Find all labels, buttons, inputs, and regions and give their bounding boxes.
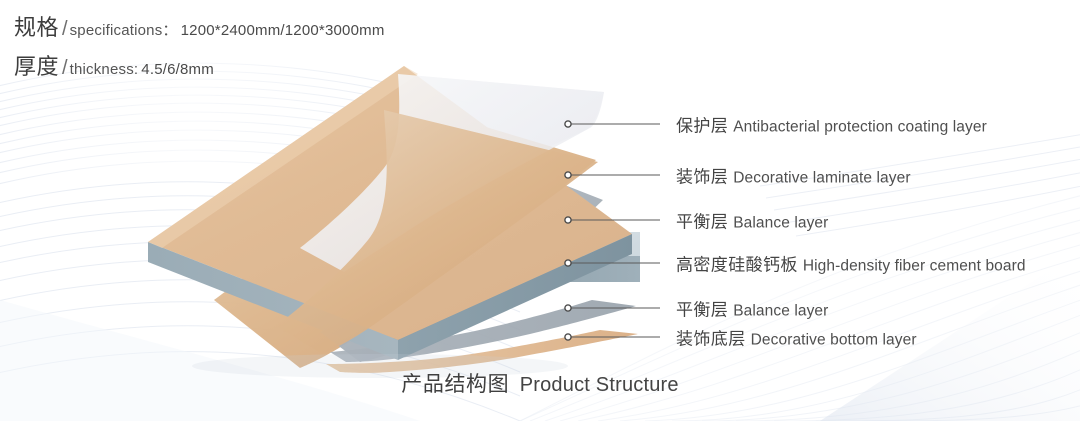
- leader-dot-1: [565, 121, 571, 127]
- spec-thickness-label-cn: 厚度: [14, 49, 59, 81]
- spec-size-label-en: specifications：: [70, 19, 178, 40]
- spec-size-separator: /: [62, 18, 68, 41]
- spec-thickness-value: 4.5/6/8mm: [141, 61, 214, 78]
- leader-dot-6: [565, 334, 571, 340]
- leader-dot-2: [565, 172, 571, 178]
- spec-thickness-separator: /: [62, 57, 68, 80]
- spec-row-thickness: 厚度 / thickness: 4.5/6/8mm: [14, 49, 385, 81]
- leader-dot-3: [565, 217, 571, 223]
- diagram-caption: 产品结构图 Product Structure: [0, 368, 1080, 398]
- caption-en: Product Structure: [520, 374, 679, 396]
- caption-cn: 产品结构图: [401, 373, 509, 396]
- spec-thickness-label-en: thickness:: [70, 61, 139, 78]
- leader-dot-4: [565, 260, 571, 266]
- leader-dot-5: [565, 305, 571, 311]
- spec-size-value: 1200*2400mm/1200*3000mm: [181, 22, 385, 39]
- spec-size-label-cn: 规格: [14, 10, 59, 42]
- product-structure-diagram: 规格 / specifications： 1200*2400mm/1200*30…: [0, 0, 1080, 421]
- specifications-block: 规格 / specifications： 1200*2400mm/1200*30…: [14, 10, 385, 88]
- spec-row-size: 规格 / specifications： 1200*2400mm/1200*30…: [14, 10, 385, 42]
